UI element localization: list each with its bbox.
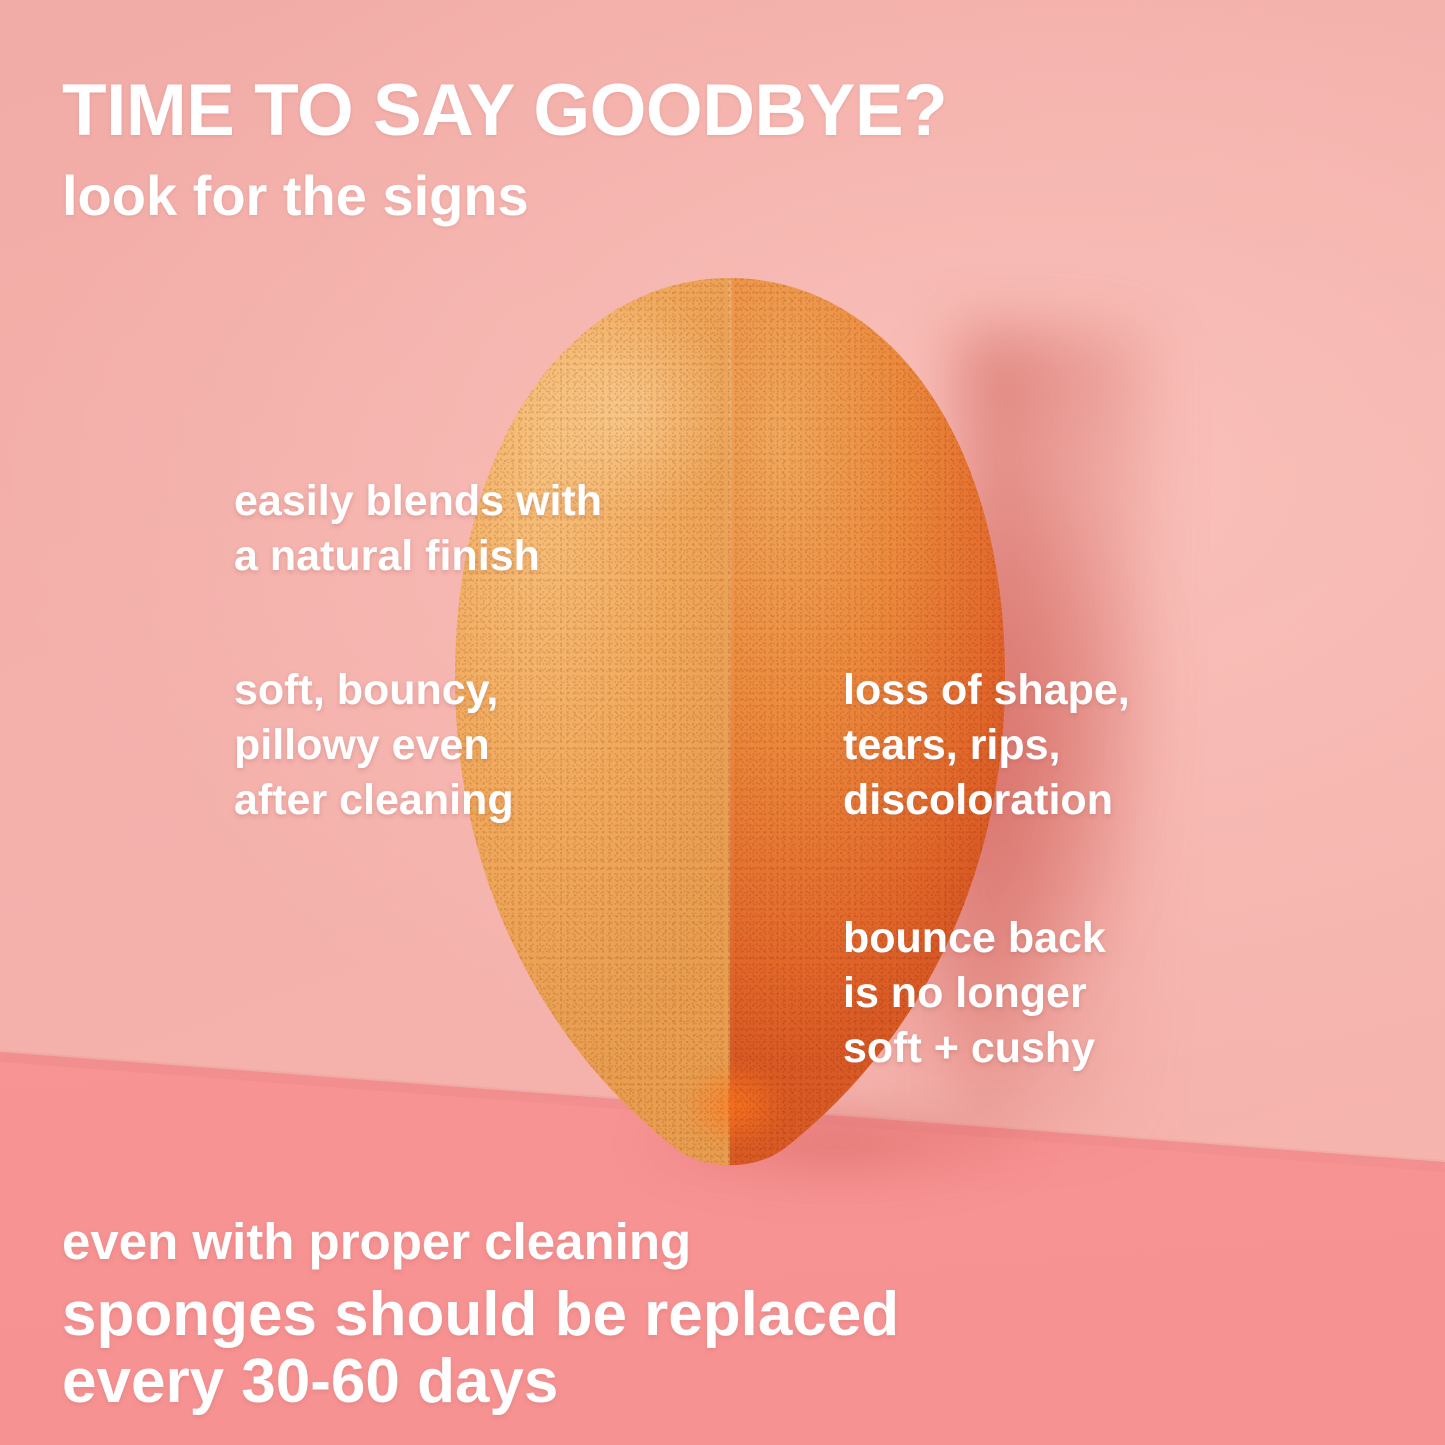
promo-graphic: TIME TO SAY GOODBYE? look for the signs … (0, 0, 1445, 1445)
footer-headline: sponges should be replaced every 30-60 d… (62, 1282, 899, 1416)
page-title: TIME TO SAY GOODBYE? (62, 74, 947, 147)
callout-soft-bouncy: soft, bouncy, pillowy even after cleanin… (234, 663, 514, 828)
page-subtitle: look for the signs (62, 168, 529, 224)
footer-note: even with proper cleaning (62, 1216, 691, 1267)
callout-bounce-back: bounce back is no longer soft + cushy (843, 911, 1106, 1076)
callout-easily-blends: easily blends with a natural finish (234, 474, 602, 584)
callout-loss-of-shape: loss of shape, tears, rips, discoloratio… (843, 663, 1130, 828)
